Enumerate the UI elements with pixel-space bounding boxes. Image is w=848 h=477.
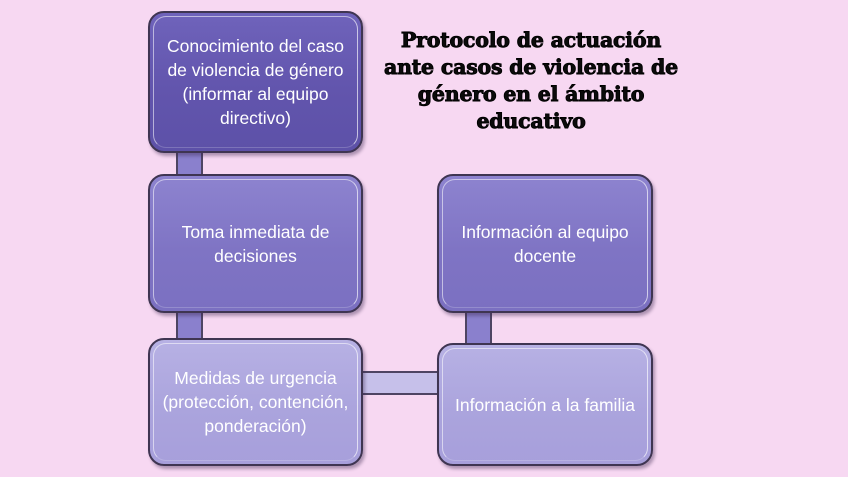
flow-node-urgent-measures[interactable]: Medidas de urgencia (protección, contenc…: [148, 338, 363, 466]
connector-teachers-to-family: [465, 311, 492, 345]
connector-knowledge-to-decisions: [176, 151, 203, 176]
slide-canvas: Protocolo de actuación ante casos de vio…: [0, 0, 848, 477]
flow-node-knowledge-of-case[interactable]: Conocimiento del caso de violencia de gé…: [148, 11, 363, 153]
flow-node-inform-teaching-team[interactable]: Información al equipo docente: [437, 174, 653, 313]
flow-node-label: Toma inmediata de decisiones: [162, 220, 349, 268]
flow-node-label: Medidas de urgencia (protección, contenc…: [162, 366, 349, 438]
connector-decisions-to-urgent-measures: [176, 311, 203, 340]
flow-node-label: Información al equipo docente: [451, 220, 639, 268]
connector-urgent-measures-to-family: [361, 371, 439, 395]
flow-node-label: Información a la familia: [451, 393, 639, 417]
flow-node-inform-family[interactable]: Información a la familia: [437, 343, 653, 466]
flow-node-label: Conocimiento del caso de violencia de gé…: [162, 34, 349, 130]
slide-title: Protocolo de actuación ante casos de vio…: [381, 27, 681, 135]
flow-node-immediate-decisions[interactable]: Toma inmediata de decisiones: [148, 174, 363, 313]
